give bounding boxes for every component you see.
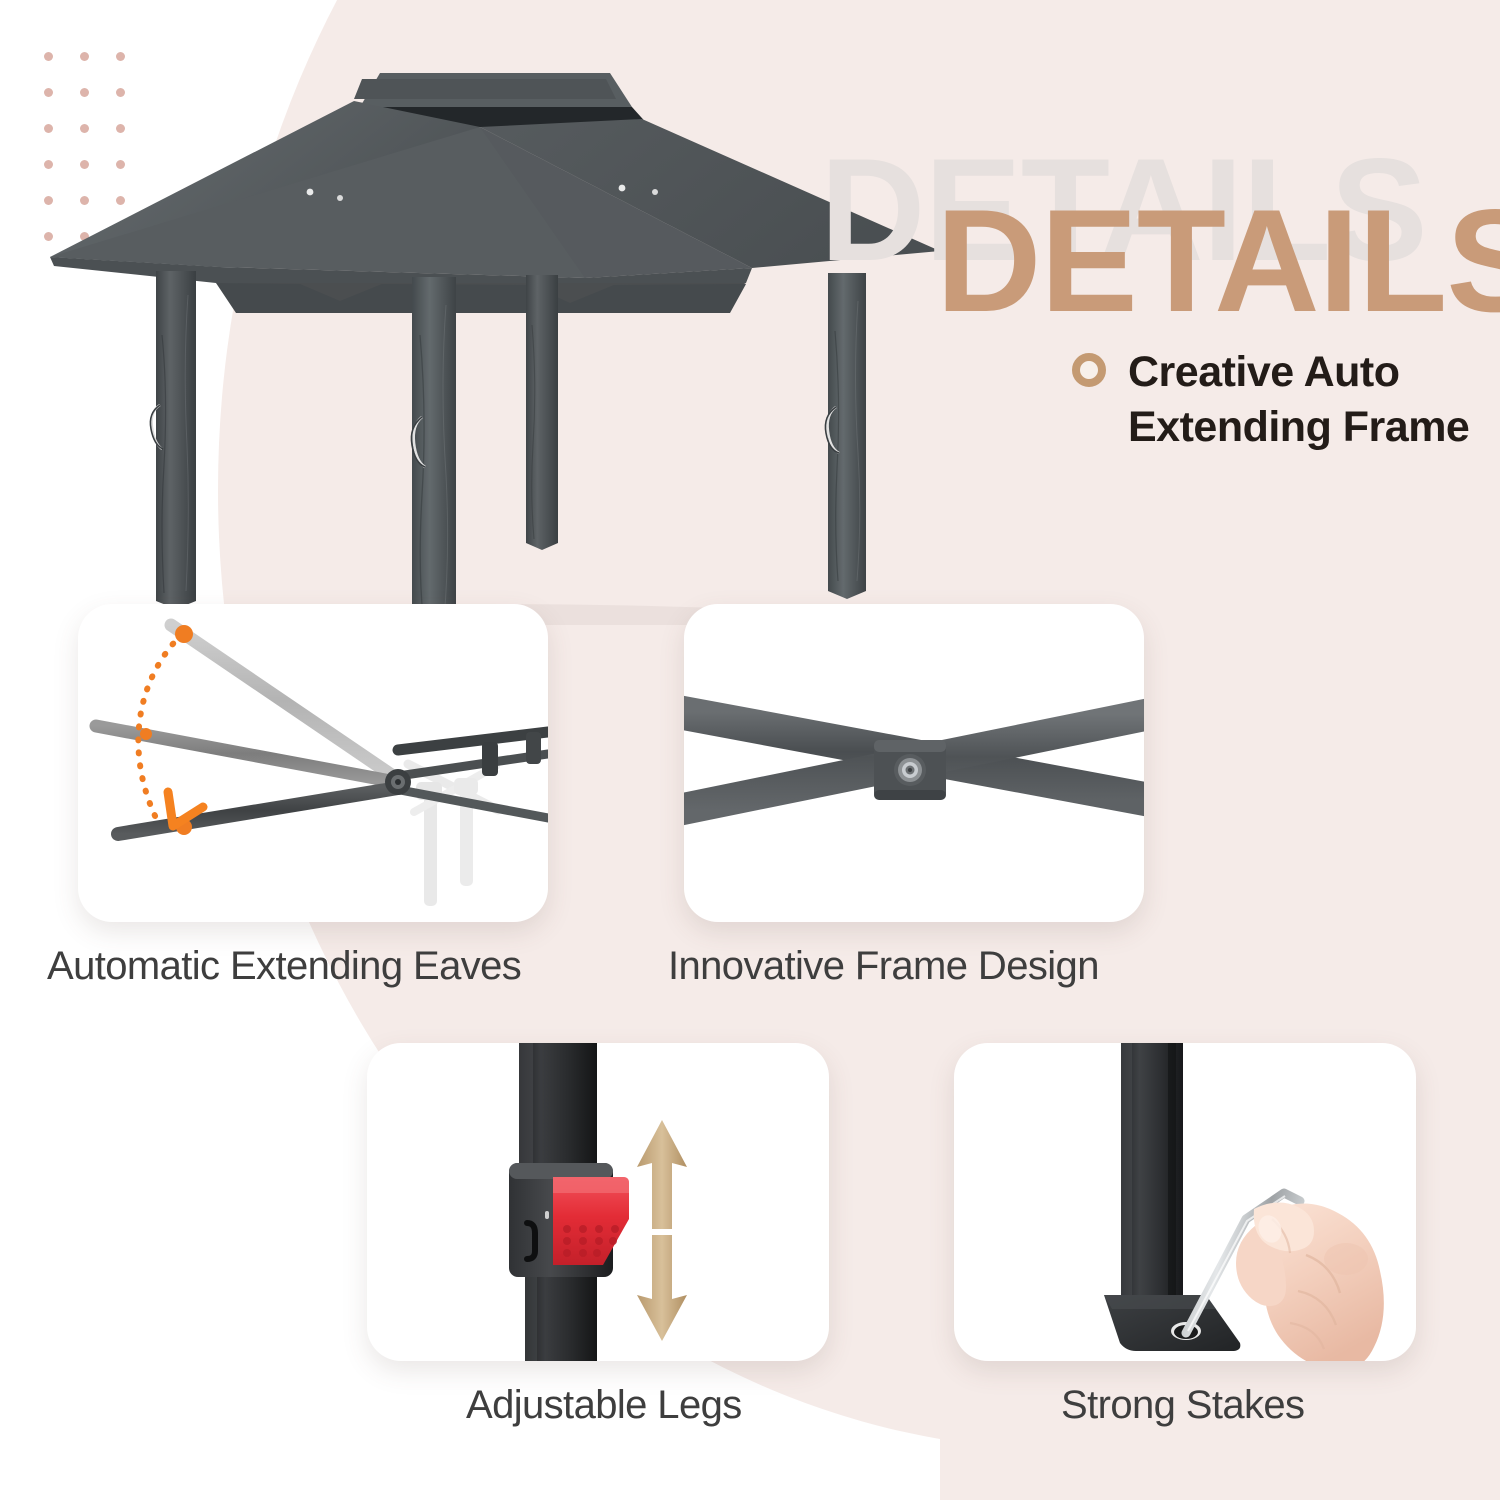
feature-caption-frame: Innovative Frame Design bbox=[668, 944, 1099, 989]
down-arrow-icon bbox=[637, 1235, 687, 1341]
feature-card-frame bbox=[684, 604, 1144, 922]
highlight-bullet-label: Creative Auto Extending Frame bbox=[1128, 345, 1483, 455]
page-title-main: DETAILS bbox=[936, 188, 1500, 334]
page-title: DETAILS DETAILS bbox=[820, 135, 1500, 335]
ring-bullet-icon bbox=[1072, 353, 1106, 387]
highlight-bullet: Creative Auto Extending Frame bbox=[1072, 345, 1492, 455]
feature-caption-legs: Adjustable Legs bbox=[466, 1383, 742, 1428]
background-white-corner bbox=[0, 1140, 430, 1500]
up-arrow-icon bbox=[637, 1120, 687, 1229]
hand bbox=[1236, 1202, 1384, 1361]
feature-card-legs bbox=[367, 1043, 829, 1361]
feature-caption-eaves: Automatic Extending Eaves bbox=[47, 944, 521, 989]
feature-card-eaves bbox=[78, 604, 548, 922]
feature-caption-stakes: Strong Stakes bbox=[1061, 1383, 1304, 1428]
feature-card-stakes bbox=[954, 1043, 1416, 1361]
